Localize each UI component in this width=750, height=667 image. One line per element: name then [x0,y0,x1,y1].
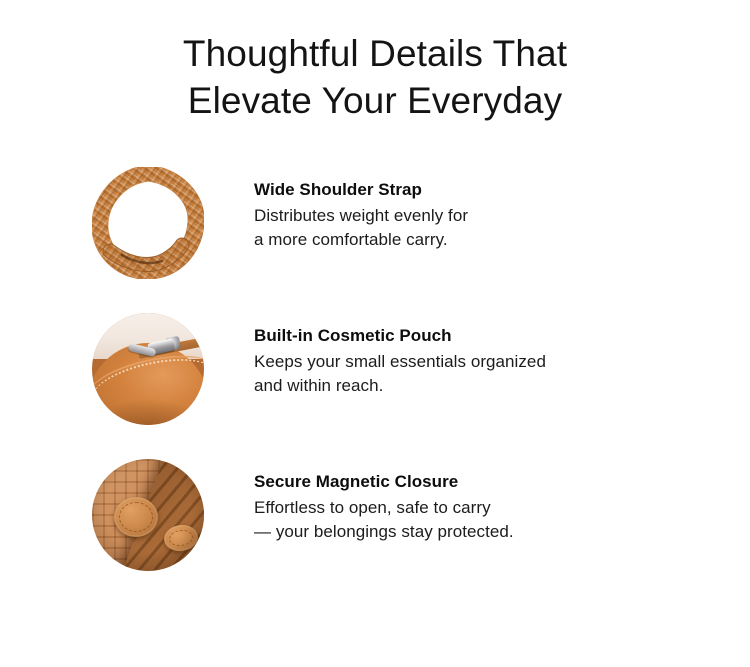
feature-text-wide-shoulder-strap: Wide Shoulder Strap Distributes weight e… [254,179,674,253]
feature-description-line-2: and within reach. [254,374,674,399]
feature-description-line-1: Effortless to open, safe to carry [254,496,674,521]
feature-title: Wide Shoulder Strap [254,179,674,202]
feature-text-magnetic-closure: Secure Magnetic Closure Effortless to op… [254,471,674,545]
feature-list: Wide Shoulder Strap Distributes weight e… [0,167,750,605]
feature-item-magnetic-closure: Secure Magnetic Closure Effortless to op… [0,459,750,605]
page-title-line-1: Thoughtful Details That [0,30,750,77]
feature-description-line-1: Keeps your small essentials organized [254,350,674,375]
feature-title: Secure Magnetic Closure [254,471,674,494]
feature-item-wide-shoulder-strap: Wide Shoulder Strap Distributes weight e… [0,167,750,313]
feature-highlights-page: Thoughtful Details That Elevate Your Eve… [0,0,750,667]
braided-strap-icon [92,167,204,279]
feature-image-magnetic-closure [92,459,204,571]
feature-title: Built-in Cosmetic Pouch [254,325,674,348]
feature-description-line-2: a more comfortable carry. [254,228,674,253]
feature-description-line-2: — your belongings stay protected. [254,520,674,545]
feature-description-line-1: Distributes weight evenly for [254,204,674,229]
feature-item-cosmetic-pouch: Built-in Cosmetic Pouch Keeps your small… [0,313,750,459]
image-vignette [92,459,204,571]
feature-text-cosmetic-pouch: Built-in Cosmetic Pouch Keeps your small… [254,325,674,399]
feature-description: Keeps your small essentials organized an… [254,350,674,399]
page-title-line-2: Elevate Your Everyday [0,77,750,124]
braided-strap-svg [92,167,204,279]
pouch-shadow [92,385,204,425]
feature-image-cosmetic-pouch [92,313,204,425]
page-title: Thoughtful Details That Elevate Your Eve… [0,0,750,125]
feature-image-wide-shoulder-strap [92,167,204,279]
feature-description: Distributes weight evenly for a more com… [254,204,674,253]
woven-magnetic-closure-icon [92,459,204,571]
zipper-pouch-icon [92,313,204,425]
feature-description: Effortless to open, safe to carry — your… [254,496,674,545]
